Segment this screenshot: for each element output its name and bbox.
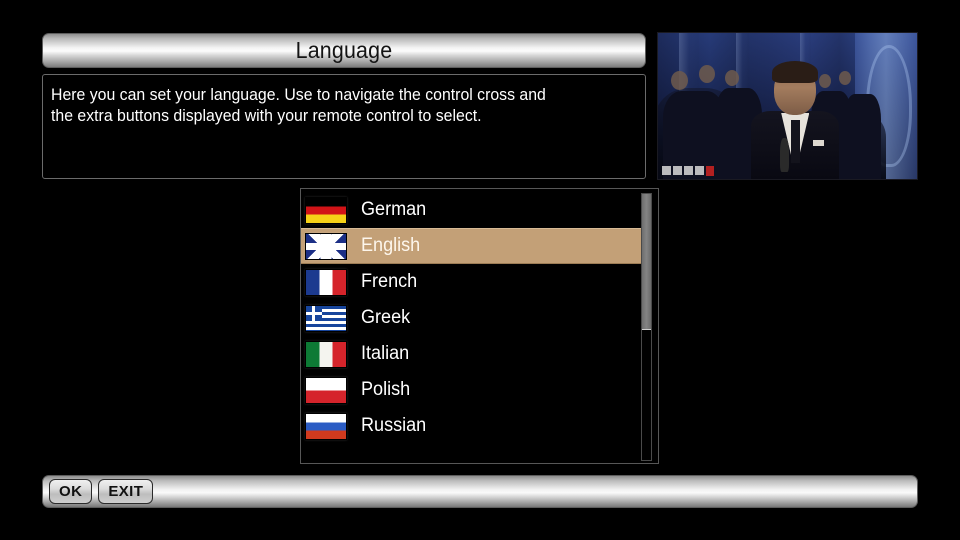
language-row-german[interactable]: German [301,192,643,228]
softkey-bar: OKEXIT [42,475,918,508]
language-row-polish[interactable]: Polish [301,372,643,408]
page-title: Language [296,37,393,64]
list-scrollbar-thumb[interactable] [642,194,651,330]
logo-block [673,166,682,175]
language-label: Russian [361,415,426,437]
language-row-greek[interactable]: Greek [301,300,643,336]
description-text: Here you can set your language. Use to n… [51,85,614,127]
language-label: German [361,199,426,221]
language-row-russian[interactable]: Russian [301,408,643,444]
tv-osd-screen: Language Here you can set your language.… [0,0,960,540]
logo-accent [706,166,714,176]
exit-button[interactable]: EXIT [98,479,153,504]
video-presenter [751,65,839,179]
microphone-icon [780,138,789,172]
presenter-hair [772,61,818,84]
flag-gb-icon [305,233,347,260]
language-label: English [361,235,420,257]
language-label: Polish [361,379,410,401]
ok-button[interactable]: OK [49,479,92,504]
logo-block [684,166,693,175]
news-channel-logo [662,165,714,176]
logo-block [695,166,704,175]
language-label: French [361,271,417,293]
language-label: Greek [361,307,410,329]
logo-block [662,166,671,175]
presenter-tie [791,120,800,163]
language-row-italian[interactable]: Italian [301,336,643,372]
video-person-head [671,71,688,90]
flag-gr-icon [305,305,347,332]
language-row-french[interactable]: French [301,264,643,300]
description-panel: Here you can set your language. Use to n… [42,74,646,179]
language-list-panel: GermanEnglishFrenchGreekItalianPolishRus… [300,188,659,464]
flag-it-icon [305,341,347,368]
presenter-pocket-square [813,140,824,146]
video-person-silhouette [844,94,880,179]
flag-ru-icon [305,413,347,440]
list-scrollbar-track[interactable] [641,193,652,461]
video-preview[interactable] [657,32,918,180]
language-row-english[interactable]: English [301,228,643,264]
language-label: Italian [361,343,409,365]
video-person-head [725,70,739,86]
flag-pl-icon [305,377,347,404]
softkey-label: OK [59,483,82,500]
language-list: GermanEnglishFrenchGreekItalianPolishRus… [301,192,643,444]
flag-de-icon [305,197,347,224]
flag-fr-icon [305,269,347,296]
softkey-label: EXIT [108,483,143,500]
window-title-bar: Language [42,33,646,68]
